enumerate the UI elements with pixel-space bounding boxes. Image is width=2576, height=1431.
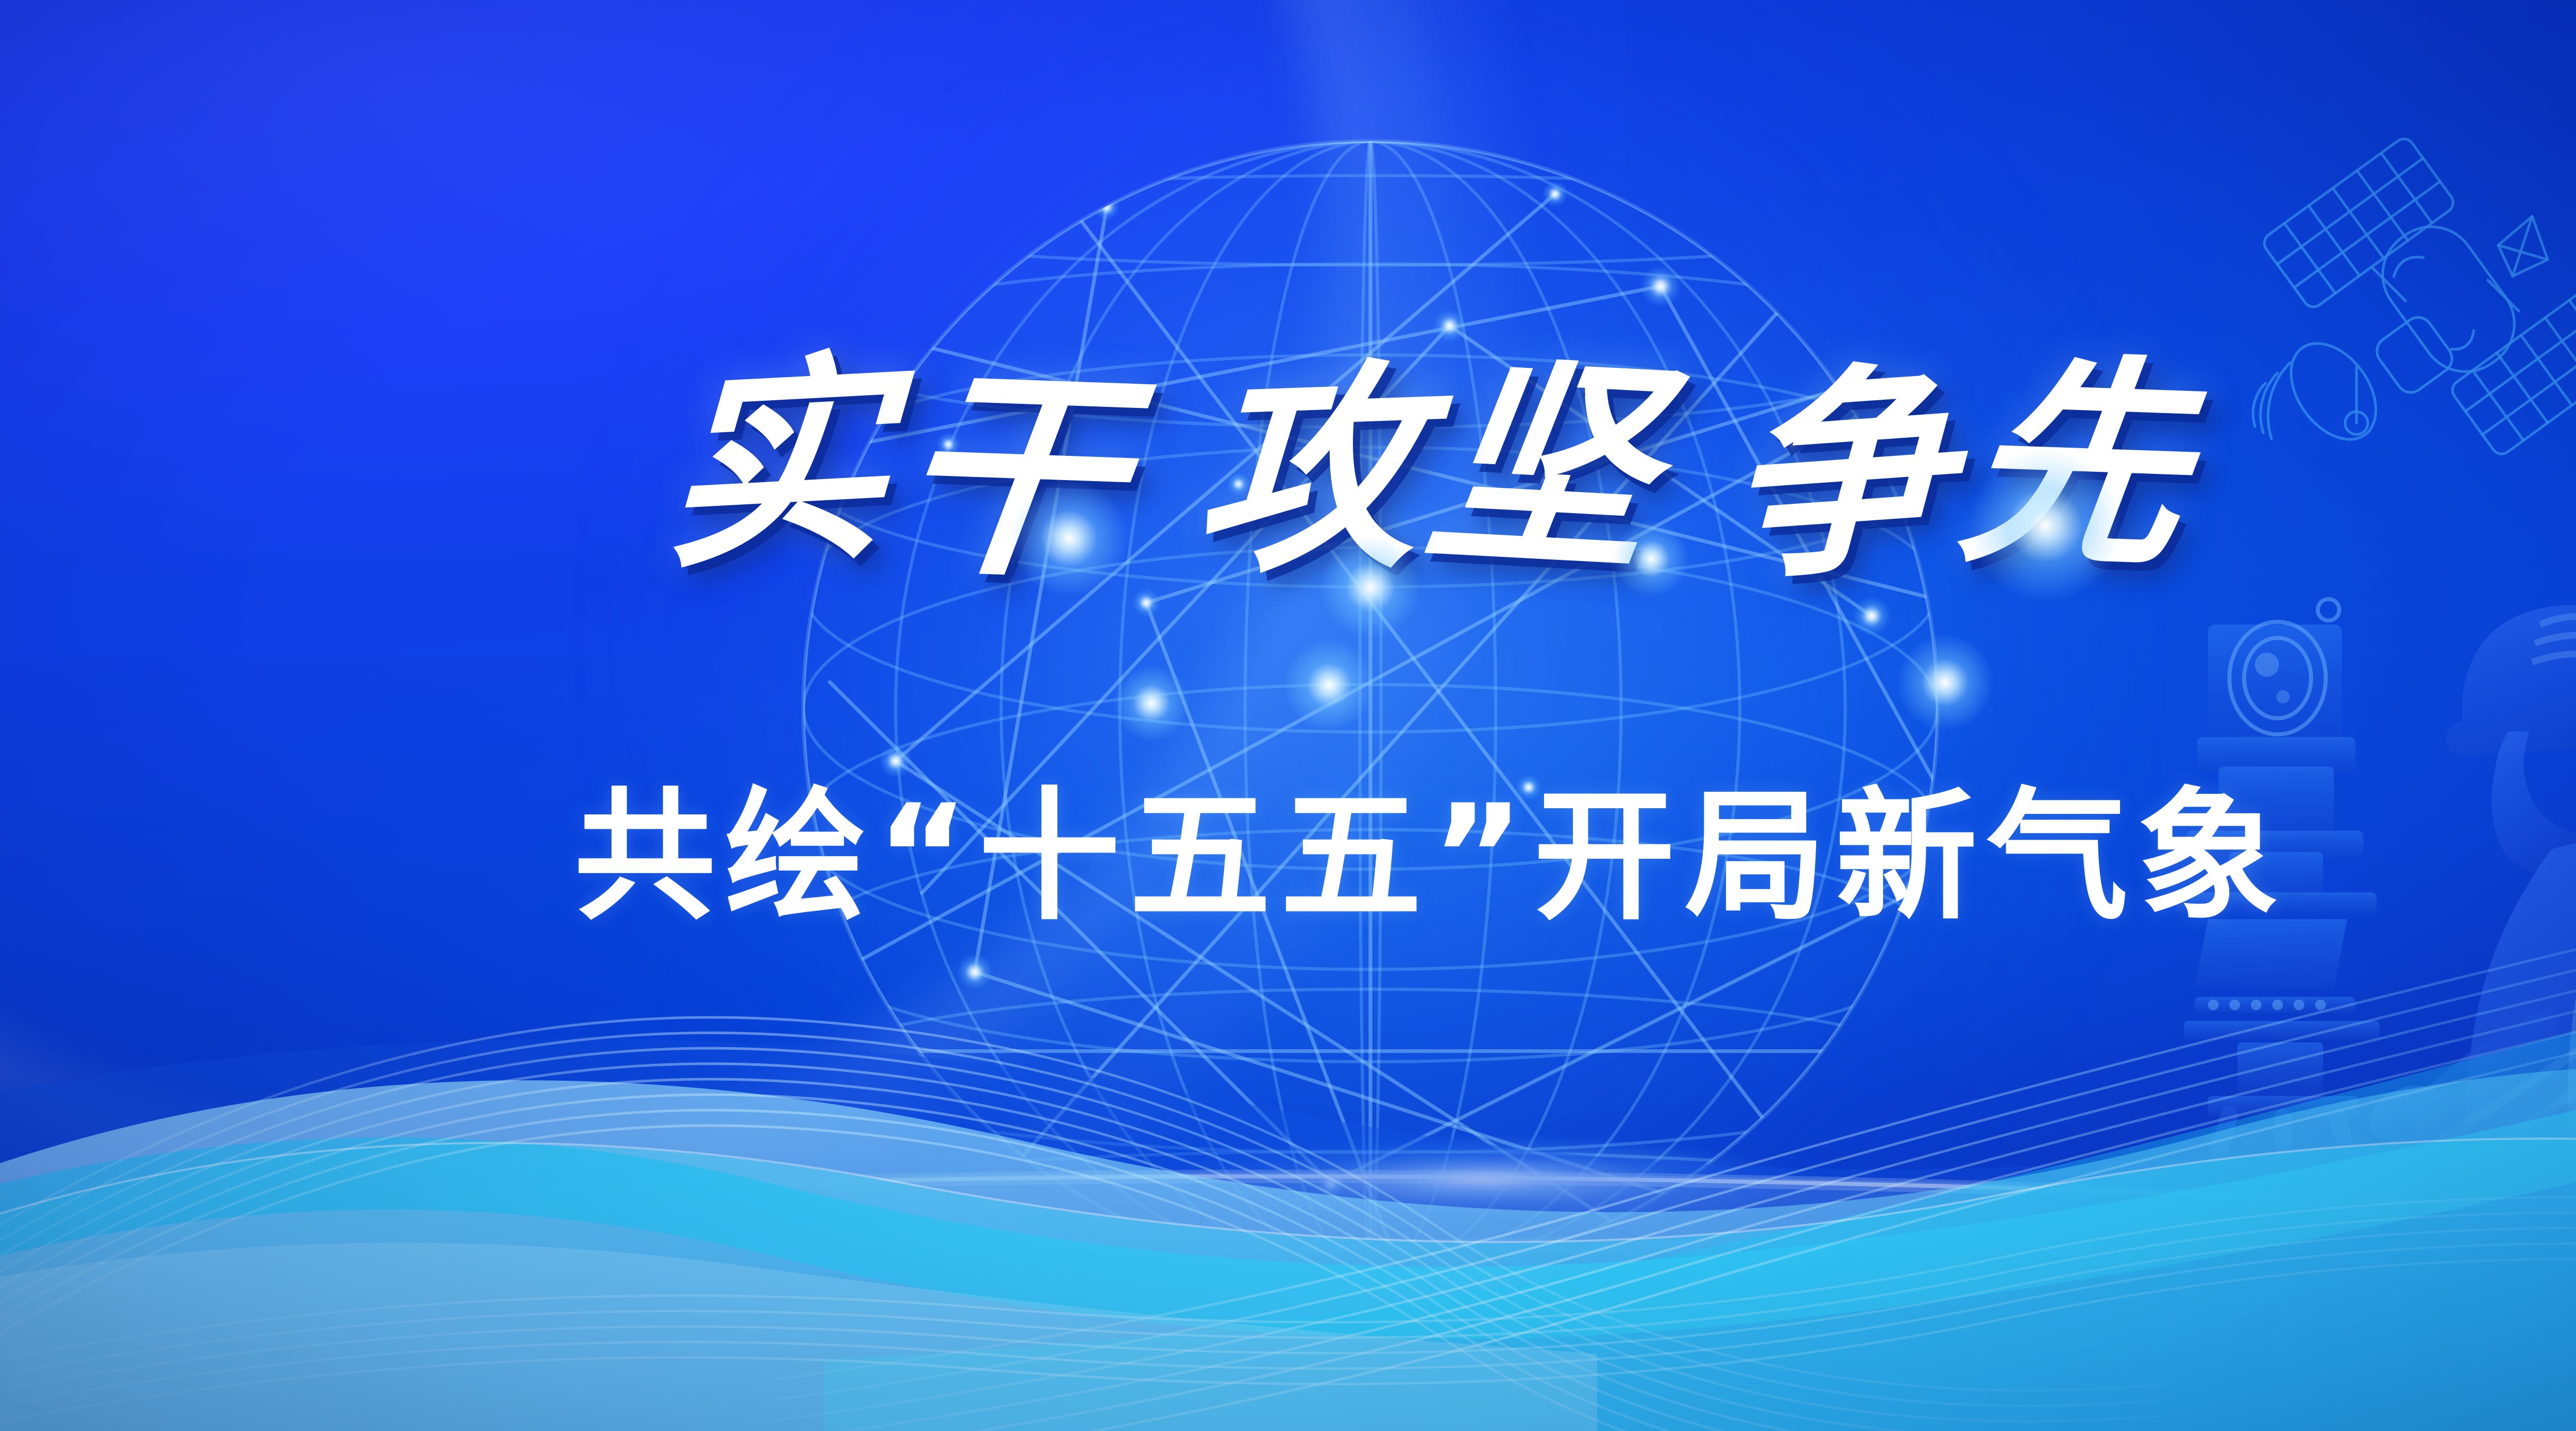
page-subtitle: 共绘“十五五”开局新气象 xyxy=(0,742,2576,947)
headline-char-2: 干 xyxy=(886,362,1147,591)
subtitle-segment-3: 开局新气象 xyxy=(1534,774,2289,939)
headline-char-6: 先 xyxy=(1951,350,2212,580)
headline-char-4: 坚 xyxy=(1417,350,1681,584)
headline-char-5: 争 xyxy=(1725,356,1965,593)
headline-char-3: 攻 xyxy=(1190,356,1437,586)
poster-canvas: 实干攻坚争先 共绘“十五五”开局新气象 xyxy=(0,0,2576,1431)
subtitle-segment-2: “十五五” xyxy=(876,774,1533,939)
subtitle-segment-1: 共绘 xyxy=(574,774,876,939)
headline-char-1: 实 xyxy=(660,347,904,581)
page-headline: 实干攻坚争先 xyxy=(0,361,2576,582)
